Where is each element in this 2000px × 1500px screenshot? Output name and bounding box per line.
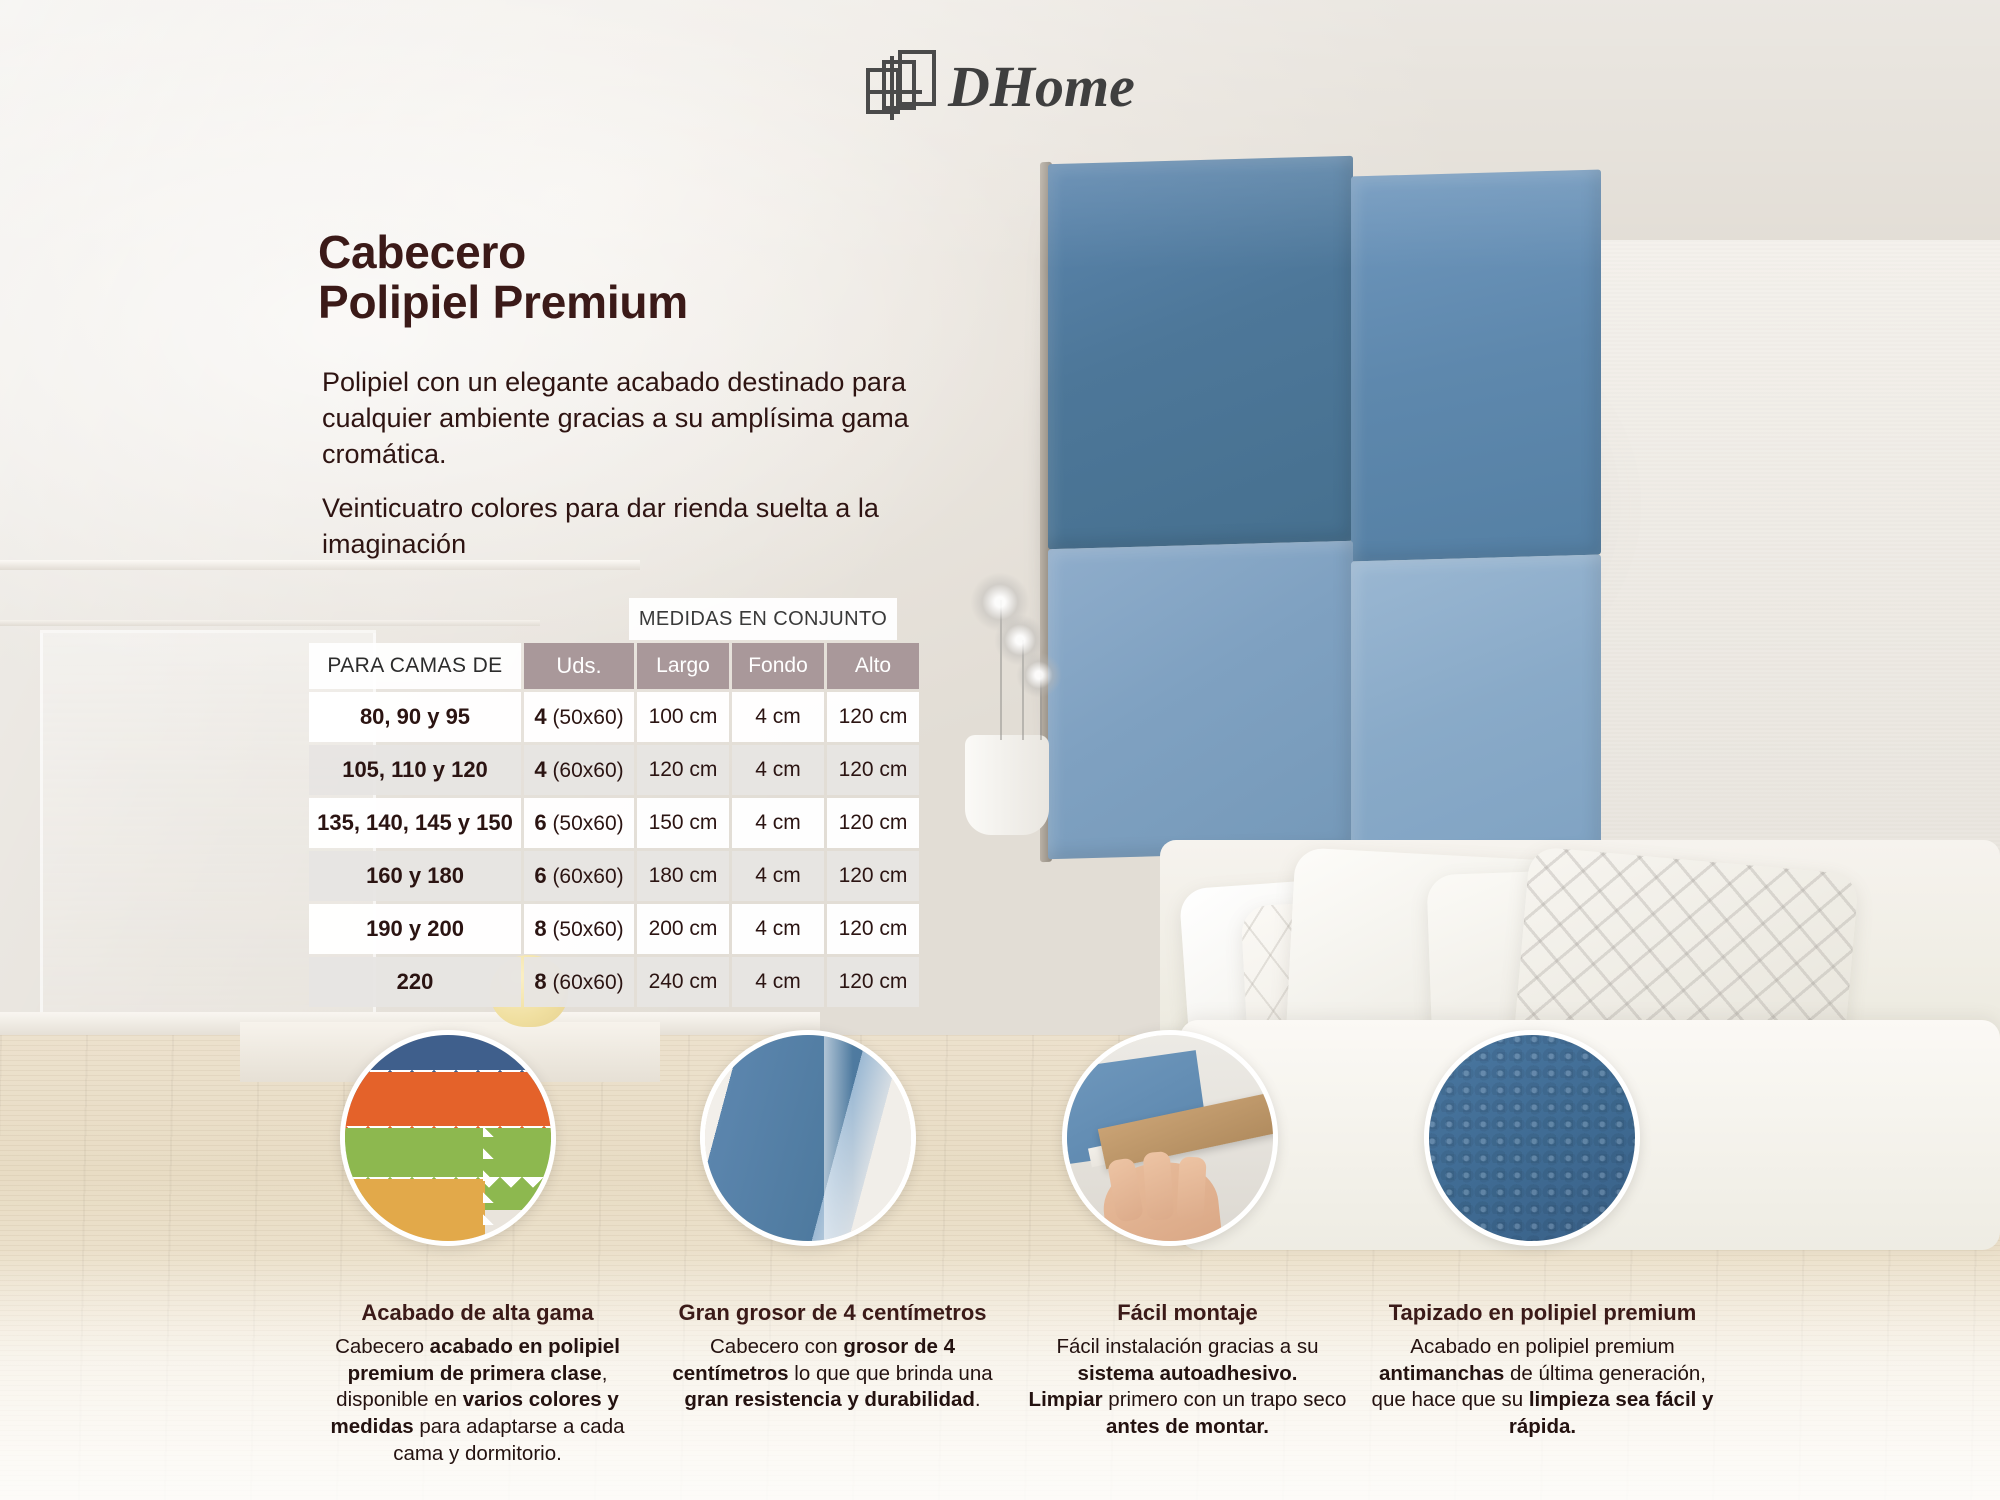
- col-header-depth: Fondo: [732, 643, 824, 689]
- feature-body: Fácil instalación gracias a su sistema a…: [1016, 1334, 1359, 1441]
- cell-beds: 80, 90 y 95: [309, 692, 521, 742]
- cell-beds: 220: [309, 957, 521, 1007]
- cell-height: 120 cm: [827, 692, 919, 742]
- overlapping-squares-icon: DHome: [860, 40, 1160, 130]
- table-group-header: MEDIDAS EN CONJUNTO: [629, 598, 897, 640]
- cell-beds: 135, 140, 145 y 150: [309, 798, 521, 848]
- cell-units: 6 (60x60): [524, 851, 634, 901]
- intro-paragraph-1: Polipiel con un elegante acabado destina…: [322, 365, 922, 473]
- infographic-canvas: DHome Cabecero Polipiel Premium Polipiel…: [0, 0, 2000, 1500]
- brand-logo: DHome: [860, 40, 1160, 130]
- cell-height: 120 cm: [827, 798, 919, 848]
- cell-height: 120 cm: [827, 957, 919, 1007]
- cell-length: 200 cm: [637, 904, 729, 954]
- cell-units-count: 6: [534, 863, 546, 888]
- cell-depth: 4 cm: [732, 904, 824, 954]
- cell-height: 120 cm: [827, 745, 919, 795]
- cell-units-count: 8: [534, 916, 546, 941]
- feature-title: Gran grosor de 4 centímetros: [661, 1300, 1004, 1326]
- headboard-panel-bottom-left: [1048, 541, 1353, 860]
- cell-units-count: 4: [534, 704, 546, 729]
- feature-title: Tapizado en polipiel premium: [1371, 1300, 1714, 1326]
- feature-icon-3: [1062, 1030, 1278, 1246]
- headboard-panel-top-left: [1048, 156, 1353, 550]
- intro-text: Polipiel con un elegante acabado destina…: [322, 365, 922, 581]
- brand-name: DHome: [947, 54, 1135, 119]
- cell-units: 6 (50x60): [524, 798, 634, 848]
- feature-title: Fácil montaje: [1016, 1300, 1359, 1326]
- table-row: 190 y 200 8 (50x60) 200 cm 4 cm 120 cm: [309, 904, 919, 954]
- feature-icon-2: [700, 1030, 916, 1246]
- table-row: 105, 110 y 120 4 (60x60) 120 cm 4 cm 120…: [309, 745, 919, 795]
- size-table-grid: PARA CAMAS DE Uds. Largo Fondo Alto 80, …: [306, 640, 922, 1010]
- feature-body: Cabecero acabado en polipiel premium de …: [306, 1334, 649, 1467]
- cell-beds: 105, 110 y 120: [309, 745, 521, 795]
- feature-caption-3: Fácil montaje Fácil instalación gracias …: [1010, 1300, 1365, 1467]
- cell-length: 120 cm: [637, 745, 729, 795]
- feature-caption-4: Tapizado en polipiel premium Acabado en …: [1365, 1300, 1720, 1467]
- adhesive-mounting-icon: [1067, 1035, 1273, 1241]
- dandelion-flower: [1016, 652, 1062, 698]
- table-row: 135, 140, 145 y 150 6 (50x60) 150 cm 4 c…: [309, 798, 919, 848]
- col-header-units: Uds.: [524, 643, 634, 689]
- cell-length: 100 cm: [637, 692, 729, 742]
- feature-body: Acabado en polipiel premium antimanchas …: [1371, 1334, 1714, 1441]
- fabric-swatches-icon: [345, 1035, 551, 1241]
- cell-depth: 4 cm: [732, 692, 824, 742]
- cell-height: 120 cm: [827, 904, 919, 954]
- cell-units-size: (50x60): [552, 812, 623, 835]
- cell-units: 4 (50x60): [524, 692, 634, 742]
- table-row: 80, 90 y 95 4 (50x60) 100 cm 4 cm 120 cm: [309, 692, 919, 742]
- intro-paragraph-2: Veinticuatro colores para dar rienda sue…: [322, 491, 922, 563]
- cell-depth: 4 cm: [732, 798, 824, 848]
- room-photo-background: [0, 0, 2000, 1500]
- table-row: 160 y 180 6 (60x60) 180 cm 4 cm 120 cm: [309, 851, 919, 901]
- cell-units-size: (60x60): [552, 865, 623, 888]
- cell-units: 8 (50x60): [524, 904, 634, 954]
- cell-units: 8 (60x60): [524, 957, 634, 1007]
- headboard-panel-bottom-right: [1351, 555, 1601, 862]
- feature-body: Cabecero con grosor de 4 centímetros lo …: [661, 1334, 1004, 1414]
- cell-units-count: 6: [534, 810, 546, 835]
- feature-captions: Acabado de alta gama Cabecero acabado en…: [300, 1300, 1720, 1467]
- cell-units-size: (50x60): [552, 706, 623, 729]
- table-header-row: PARA CAMAS DE Uds. Largo Fondo Alto: [309, 643, 919, 689]
- table-row: 220 8 (60x60) 240 cm 4 cm 120 cm: [309, 957, 919, 1007]
- cell-length: 180 cm: [637, 851, 729, 901]
- cell-length: 150 cm: [637, 798, 729, 848]
- size-table: MEDIDAS EN CONJUNTO PARA CAMAS DE Uds. L…: [306, 598, 922, 1010]
- cell-beds: 160 y 180: [309, 851, 521, 901]
- feature-caption-1: Acabado de alta gama Cabecero acabado en…: [300, 1300, 655, 1467]
- cell-units-size: (60x60): [552, 971, 623, 994]
- leather-texture-icon: [1429, 1035, 1635, 1241]
- cell-depth: 4 cm: [732, 745, 824, 795]
- cell-height: 120 cm: [827, 851, 919, 901]
- col-header-beds: PARA CAMAS DE: [309, 643, 521, 689]
- col-header-length: Largo: [637, 643, 729, 689]
- panel-thickness-icon: [705, 1035, 911, 1241]
- cell-beds: 190 y 200: [309, 904, 521, 954]
- title-line-2: Polipiel Premium: [318, 278, 688, 328]
- cell-units-size: (50x60): [552, 918, 623, 941]
- page-title: Cabecero Polipiel Premium: [318, 228, 688, 327]
- cell-length: 240 cm: [637, 957, 729, 1007]
- feature-icon-1: [340, 1030, 556, 1246]
- feature-icon-4: [1424, 1030, 1640, 1246]
- feature-caption-2: Gran grosor de 4 centímetros Cabecero co…: [655, 1300, 1010, 1467]
- feature-title: Acabado de alta gama: [306, 1300, 649, 1326]
- cell-depth: 4 cm: [732, 851, 824, 901]
- cell-units-count: 8: [534, 969, 546, 994]
- cell-units-count: 4: [534, 757, 546, 782]
- col-header-height: Alto: [827, 643, 919, 689]
- title-line-1: Cabecero: [318, 228, 688, 278]
- size-table-body: 80, 90 y 95 4 (50x60) 100 cm 4 cm 120 cm…: [309, 692, 919, 1007]
- vase: [965, 735, 1049, 835]
- cell-units: 4 (60x60): [524, 745, 634, 795]
- cell-units-size: (60x60): [552, 759, 623, 782]
- headboard-panel-top-right: [1351, 170, 1601, 562]
- cell-depth: 4 cm: [732, 957, 824, 1007]
